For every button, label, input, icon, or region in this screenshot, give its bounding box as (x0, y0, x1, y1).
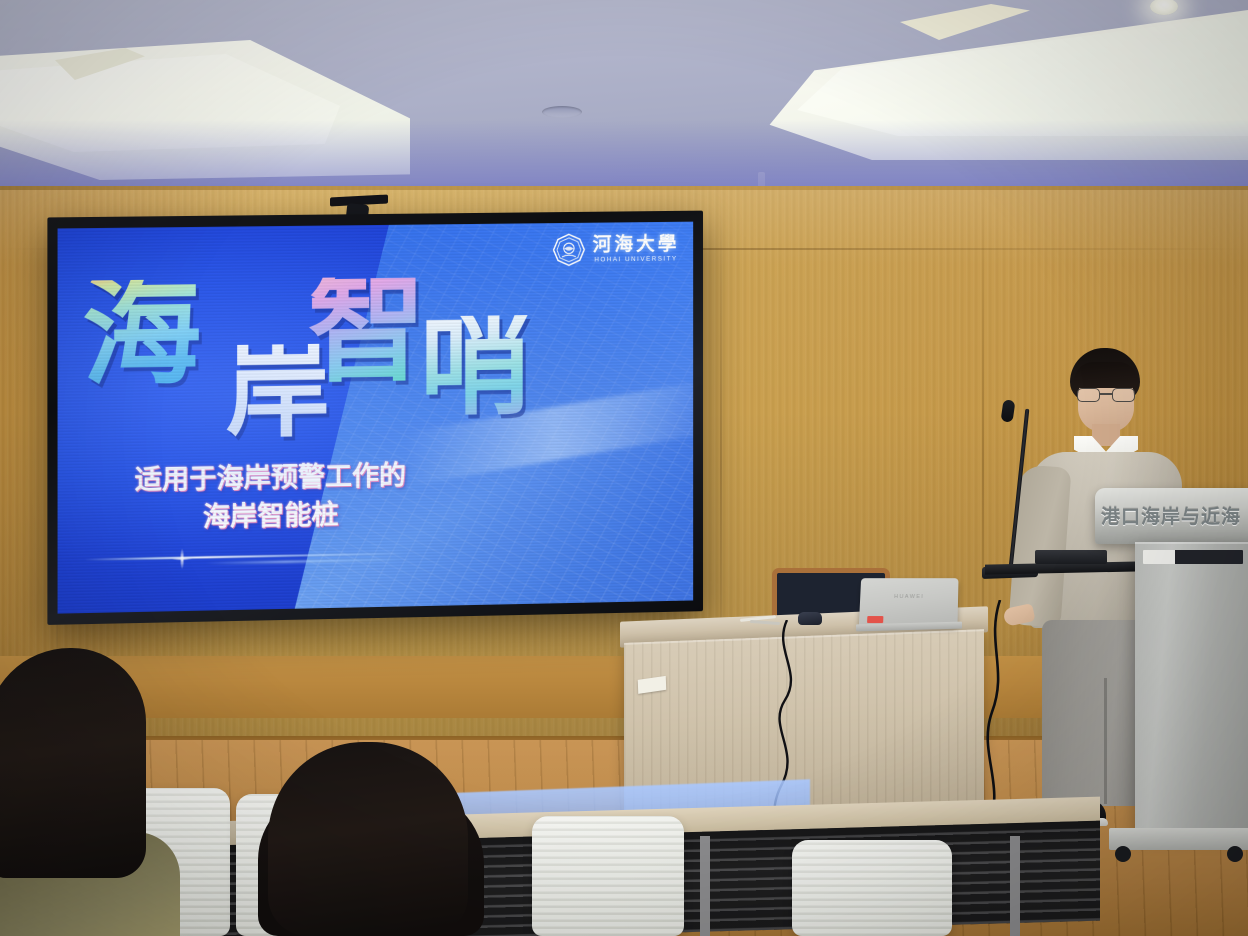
slide-title-char-1: 海 (82, 279, 201, 390)
desk-cables (740, 614, 790, 626)
laptop-base (856, 622, 962, 632)
ceiling-downlight-icon (1150, 0, 1178, 15)
slide-title-char-3: 智 (308, 276, 426, 386)
presentation-room-photo: 河海大學 HOHAI UNIVERSITY 海 岸 智 哨 适用于海岸预警工作的… (0, 0, 1248, 936)
desk-asset-label (638, 676, 666, 694)
audience-desk-divider (700, 836, 710, 936)
slide-title-char-4: 哨 (420, 315, 531, 419)
lectern-caster (1115, 846, 1131, 862)
audience-member-left (0, 648, 146, 878)
presenter-glasses-icon (1076, 388, 1136, 402)
microphone-head-icon (1001, 399, 1016, 422)
slide-subtitle: 适用于海岸预警工作的 海岸智能桩 (104, 456, 436, 539)
ceiling (0, 0, 1248, 200)
led-display-frame: 河海大學 HOHAI UNIVERSITY 海 岸 智 哨 适用于海岸预警工作的… (47, 211, 703, 625)
gooseneck-microphone[interactable] (980, 408, 1040, 578)
audience-member-right (268, 742, 468, 936)
laptop-sticker (867, 616, 883, 623)
lectern-base (1109, 828, 1248, 850)
audience-desk-divider (1010, 836, 1020, 936)
wall-crown-line (0, 186, 1248, 190)
slide-subtitle-line-2: 海岸智能桩 (104, 494, 436, 539)
lectern-cabinet (1135, 542, 1248, 832)
lectern-caster (1227, 846, 1243, 862)
laptop-lid: HUAWEI (859, 578, 959, 626)
lectern-control-box[interactable] (1035, 550, 1107, 564)
lectern-sign-text: 港口海岸与近海 (1101, 502, 1248, 529)
presentation-clicker[interactable] (798, 612, 822, 625)
audience-chair[interactable] (792, 840, 952, 936)
laptop[interactable]: HUAWEI (856, 578, 962, 632)
ceiling-cove-right-notch (900, 4, 1030, 40)
presentation-slide[interactable]: 河海大學 HOHAI UNIVERSITY 海 岸 智 哨 适用于海岸预警工作的… (58, 222, 694, 614)
microphone-stem (1008, 409, 1029, 575)
ceiling-speaker-icon (542, 106, 582, 118)
slide-subtitle-line-1: 适用于海岸预警工作的 (104, 456, 436, 500)
audience-chair[interactable] (532, 816, 684, 936)
lectern[interactable]: 港口海岸与近海 (1095, 488, 1248, 908)
laptop-brand-label: HUAWEI (894, 594, 924, 600)
lectern-panel-label (1143, 550, 1243, 564)
presenter-fringe (1074, 362, 1138, 388)
lectern-top: 港口海岸与近海 (1095, 488, 1248, 544)
